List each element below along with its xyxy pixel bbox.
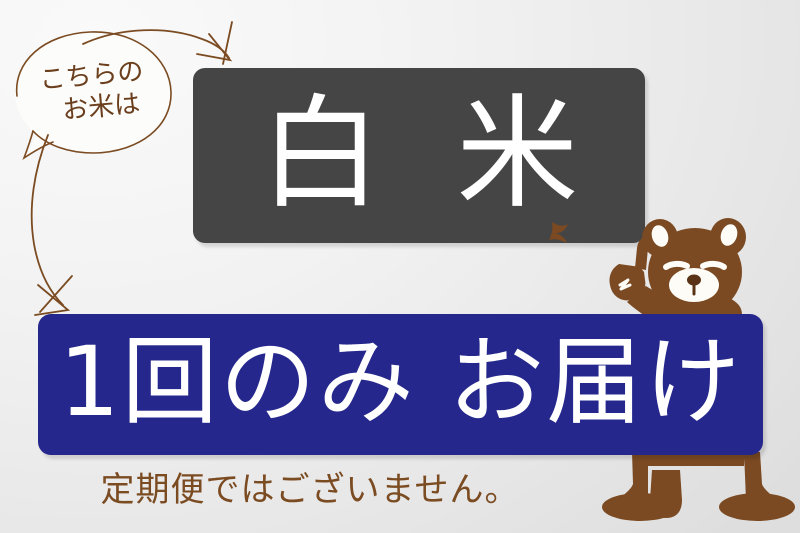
callout-bubble: こちらの お米は — [17, 37, 169, 149]
bear-finger — [635, 238, 648, 270]
bear-nose — [687, 275, 701, 286]
bear-paw — [609, 264, 645, 300]
delivery-banner-label: 1回のみ お届け — [59, 334, 743, 430]
bear-ear-right — [710, 218, 746, 256]
arrow-to-rice-panel-head — [197, 34, 230, 60]
delivery-note: 定期便ではございません。 — [0, 462, 800, 511]
bear-muzzle — [669, 268, 719, 302]
callout-line-2: お米は — [61, 89, 141, 127]
arrow-to-delivery-banner — [32, 135, 63, 305]
arrow-to-rice-panel-head-tick — [223, 22, 232, 64]
arrow-to-delivery-banner-head — [35, 285, 68, 315]
rice-type-label: 白 米 — [242, 93, 597, 215]
bear-inner-ear-right — [718, 222, 740, 248]
delivery-banner: 1回のみ お届け — [38, 314, 763, 455]
bear-eye-left — [666, 264, 687, 267]
rice-type-panel: 白 米 — [193, 68, 645, 243]
bear-inner-ear-left — [649, 223, 671, 249]
promo-banner-canvas: 白 米 こちらの お米は 1回のみ お届け 定期便ではございません。 — [0, 0, 800, 533]
callout-bubble-text: こちらの お米は — [12, 31, 173, 156]
bear-ear-left — [642, 219, 678, 257]
arrow-to-delivery-banner-head-tick — [40, 276, 72, 312]
bear-eye-right — [703, 264, 724, 267]
bear-head — [648, 228, 742, 316]
bear-paw-highlight — [620, 280, 630, 289]
